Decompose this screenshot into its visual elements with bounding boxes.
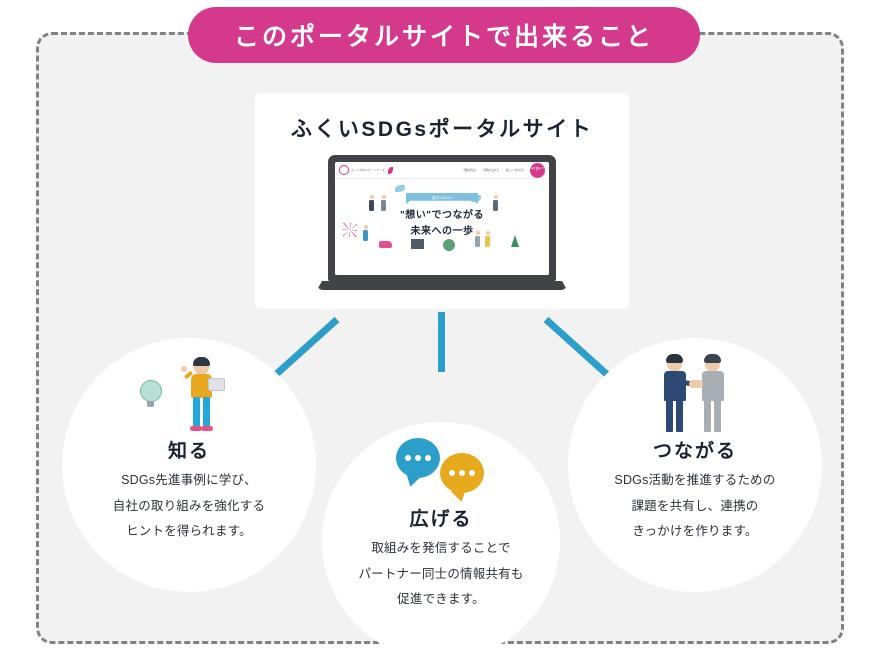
- hero-catchcopy-line1: "想い"でつながる: [400, 206, 484, 221]
- firework-illustration: [343, 223, 357, 237]
- joined-hands-icon: [689, 380, 703, 388]
- laptop-lid: ふくいSDGsパートナーズ 活動を知る 活動を広げる 新しくつながる 会員 登録…: [328, 155, 556, 281]
- person-illustration-c: [363, 225, 368, 241]
- hero-catchcopy-line2: 未来への一歩: [400, 222, 484, 237]
- feature-circle-connect: つながる SDGs活動を推進するための 課題を共有し、連携の きっかけを作ります…: [568, 338, 822, 592]
- bird-illustration: [395, 185, 405, 192]
- laptop-illustration: ふくいSDGsパートナーズ 活動を知る 活動を広げる 新しくつながる 会員 登録…: [317, 155, 567, 290]
- globe-illustration: [443, 239, 455, 251]
- website-header-bar: ふくいSDGsパートナーズ 活動を知る 活動を広げる 新しくつながる 会員 登録…: [335, 162, 549, 179]
- nav-item-know: 活動を知る: [463, 168, 476, 172]
- businessman-navy-icon: [659, 354, 693, 434]
- nav-item-spread: 活動を広げる: [483, 168, 499, 172]
- connect-icon-slot: [568, 348, 822, 434]
- nav-item-connect: 新しくつながる: [506, 168, 524, 172]
- connector-line-middle: [438, 312, 445, 372]
- speech-bubbles-icon: [392, 438, 490, 500]
- feature-description-know: SDGs先進事例に学び、 自社の取り組みを強化する ヒントを得られます。: [62, 468, 316, 545]
- lightbulb-icon: [140, 380, 162, 402]
- speech-bubble-gold-icon: [440, 453, 484, 493]
- website-hero: 福井×SDGs "想い"でつながる 未来への一歩: [335, 179, 549, 275]
- speech-bubble-blue-icon: [396, 438, 440, 478]
- tree-illustration: [511, 235, 519, 247]
- know-icon-slot: [62, 348, 316, 434]
- person-illustration-f: [485, 231, 490, 247]
- member-login-badge-text: 会員 登録・ログイン: [530, 168, 545, 173]
- person-illustration-b: [381, 195, 386, 211]
- portal-site-card-title: ふくいSDGsポータルサイト: [255, 113, 629, 143]
- laptop-base: [317, 281, 567, 290]
- hero-ribbon-text: 福井×SDGs: [432, 195, 452, 200]
- infographic-stage: このポータルサイトで出来ること ふくいSDGsポータルサイト ふくいSDGsパー…: [0, 0, 882, 664]
- site-logo-text: ふくいSDGsパートナーズ: [351, 168, 385, 172]
- factory-illustration: [411, 239, 424, 249]
- person-illustration-d: [493, 195, 498, 211]
- feature-title-spread: 広げる: [322, 504, 560, 531]
- website-nav: 活動を知る 活動を広げる 新しくつながる: [463, 168, 524, 172]
- laptop-screen: ふくいSDGsパートナーズ 活動を知る 活動を広げる 新しくつながる 会員 登録…: [335, 162, 549, 275]
- section-title-text: このポータルサイトで出来ること: [234, 17, 654, 53]
- person-illustration-a: [369, 195, 374, 211]
- member-login-badge: 会員 登録・ログイン: [530, 163, 545, 178]
- site-logo-icon: [339, 165, 349, 175]
- person-with-lightbulb-icon: [134, 354, 244, 434]
- businessman-gray-icon: [697, 354, 731, 434]
- hero-ribbon: 福井×SDGs: [406, 193, 478, 204]
- feature-title-know: 知る: [62, 436, 316, 463]
- hero-catchcopy: "想い"でつながる 未来への一歩: [400, 206, 484, 237]
- feature-description-spread: 取組みを発信することで パートナー同士の情報共有も 促進できます。: [322, 536, 560, 613]
- standing-person-icon: [182, 356, 224, 434]
- spread-icon-slot: [322, 434, 560, 500]
- feature-circle-spread: 広げる 取組みを発信することで パートナー同士の情報共有も 促進できます。: [322, 422, 560, 660]
- feature-title-connect: つながる: [568, 436, 822, 463]
- leaf-icon: [388, 167, 393, 174]
- feature-circle-know: 知る SDGs先進事例に学び、 自社の取り組みを強化する ヒントを得られます。: [62, 338, 316, 592]
- portal-site-card: ふくいSDGsポータルサイト ふくいSDGsパートナーズ 活動を知る 活動を広げ…: [255, 93, 629, 309]
- handshake-icon: [643, 354, 747, 434]
- truck-illustration: [379, 241, 392, 248]
- section-title-pill: このポータルサイトで出来ること: [188, 7, 700, 63]
- feature-description-connect: SDGs活動を推進するための 課題を共有し、連携の きっかけを作ります。: [568, 468, 822, 545]
